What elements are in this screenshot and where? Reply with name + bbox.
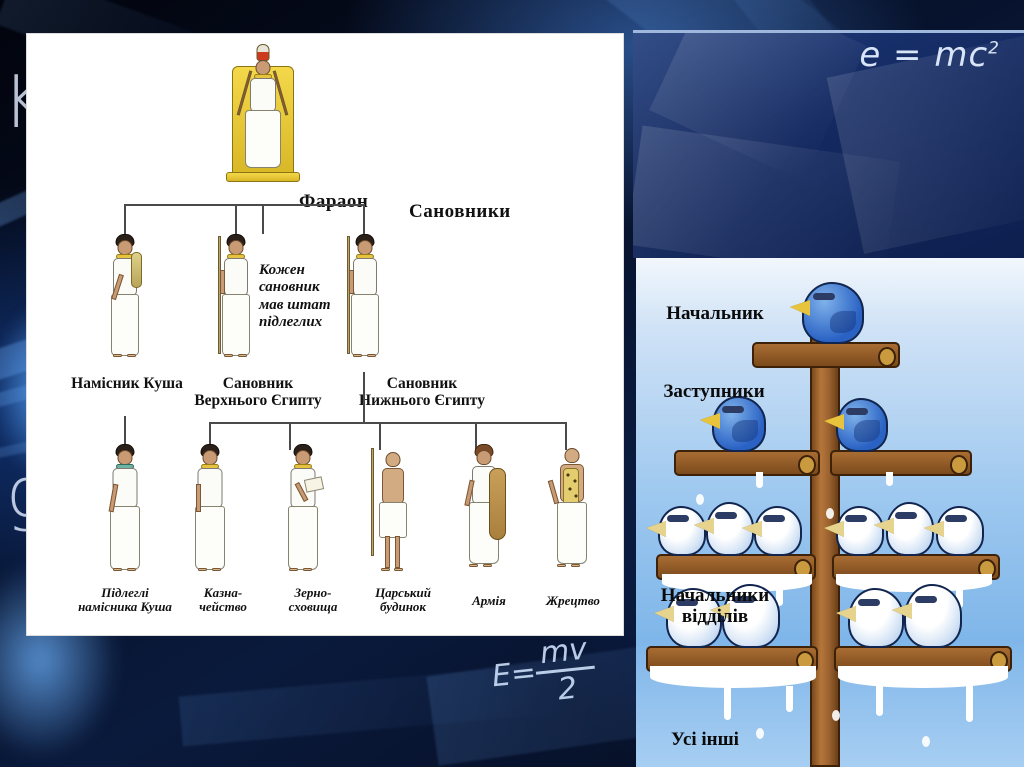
staff-icon bbox=[218, 236, 221, 354]
connector-tier3-bus bbox=[209, 422, 567, 424]
staff-icon bbox=[371, 448, 374, 556]
figure-foot bbox=[224, 354, 233, 357]
wing-icon bbox=[732, 420, 758, 442]
figure-head bbox=[477, 450, 492, 465]
beak-icon bbox=[824, 521, 844, 537]
beak-icon bbox=[892, 603, 912, 619]
wing-icon bbox=[830, 311, 856, 333]
figure-head bbox=[118, 240, 133, 255]
figure-foot bbox=[113, 568, 122, 571]
formula-denominator: 2 bbox=[536, 666, 599, 710]
figure-head bbox=[203, 450, 218, 465]
figure-robe bbox=[288, 506, 318, 570]
throne-base bbox=[226, 172, 300, 182]
formula-energy-mass-text: e = mc bbox=[859, 35, 988, 75]
figure-priesthood bbox=[543, 444, 601, 584]
figure-foot bbox=[381, 568, 390, 571]
formula-kinetic-lhs: E= bbox=[490, 655, 538, 694]
figure-torso bbox=[224, 258, 248, 296]
formula-numerator: mv bbox=[532, 631, 594, 672]
figure-granary-scribe bbox=[275, 444, 331, 584]
beak-icon bbox=[924, 521, 944, 537]
figure-arm bbox=[548, 480, 559, 504]
formula-exponent: 2 bbox=[988, 39, 1000, 59]
figure-kush-subordinates bbox=[99, 444, 151, 584]
eye-icon bbox=[763, 515, 785, 522]
formula-kinetic-energy: E=mv2 bbox=[488, 631, 598, 714]
figure-head bbox=[565, 448, 580, 463]
label-lower-egypt-official: Сановник Нижнього Єгипту bbox=[327, 376, 517, 409]
figure-robe bbox=[351, 294, 379, 356]
branch-right-deputies bbox=[830, 450, 972, 476]
label-priesthood: Жрецтво bbox=[527, 594, 619, 608]
figure-foot bbox=[483, 564, 492, 567]
figure-foot bbox=[238, 354, 247, 357]
scroll-icon bbox=[304, 476, 324, 492]
figure-foot bbox=[198, 568, 207, 571]
pharaoh-robe bbox=[245, 110, 281, 168]
label-treasury: Казна- чейство bbox=[175, 586, 271, 614]
label-upper-egypt-official: Сановник Верхнього Єгипту bbox=[163, 376, 353, 409]
bird-boss bbox=[802, 282, 864, 344]
figure-foot bbox=[367, 354, 376, 357]
figure-torso bbox=[382, 468, 404, 504]
label-department-heads: Начальники відділів bbox=[640, 586, 790, 627]
beak-icon bbox=[836, 606, 856, 622]
dropping-drip bbox=[786, 686, 793, 712]
eye-icon bbox=[667, 515, 689, 522]
figure-foot bbox=[469, 564, 478, 567]
connector-tier2-branch-1 bbox=[124, 204, 126, 236]
dropping-flake bbox=[922, 736, 930, 747]
bird-hierarchy-illustration: Начальник Заступники Начальники відділів… bbox=[636, 258, 1024, 767]
label-royal-house: Царський будинок bbox=[353, 586, 453, 614]
pharaoh-torso bbox=[250, 78, 276, 112]
figure-torso bbox=[198, 468, 223, 508]
figure-head bbox=[386, 452, 401, 467]
figure-head bbox=[358, 240, 373, 255]
pharaoh-head bbox=[256, 60, 271, 75]
dropping-splat bbox=[836, 574, 992, 592]
figure-head bbox=[296, 450, 311, 465]
beak-icon bbox=[694, 518, 714, 534]
figure-head bbox=[229, 240, 244, 255]
figure-foot bbox=[571, 564, 580, 567]
figure-head bbox=[118, 450, 133, 465]
dropping-drip bbox=[886, 472, 893, 486]
dropping-splat bbox=[838, 666, 1008, 688]
formula-energy-mass: e = mc2 bbox=[859, 35, 1000, 75]
pharaoh-crown-icon bbox=[257, 44, 270, 61]
branch-left-deputies bbox=[674, 450, 820, 476]
bird-other bbox=[904, 584, 962, 648]
dropping-drip bbox=[756, 472, 763, 488]
connector-tier3-branch-3 bbox=[379, 422, 381, 450]
label-granaries: Зерно- сховища bbox=[265, 586, 361, 614]
connector-tier2-bus bbox=[124, 204, 364, 206]
figure-leg bbox=[395, 536, 400, 568]
figure-arm bbox=[196, 484, 201, 512]
eye-icon bbox=[915, 596, 937, 603]
figure-foot bbox=[127, 354, 136, 357]
eye-icon bbox=[846, 408, 868, 415]
figure-pharaoh bbox=[227, 44, 299, 204]
figure-foot bbox=[212, 568, 221, 571]
beak-icon bbox=[742, 521, 762, 537]
beak-icon bbox=[874, 518, 894, 534]
beak-icon bbox=[700, 413, 720, 429]
label-deputies: Заступники bbox=[636, 382, 792, 403]
beak-icon bbox=[646, 521, 666, 537]
figure-foot bbox=[289, 568, 298, 571]
figure-robe bbox=[111, 294, 139, 356]
figure-foot bbox=[127, 568, 136, 571]
dropping-flake bbox=[826, 508, 834, 519]
eye-icon bbox=[945, 515, 967, 522]
note-each-official-had-staff: Кожен сановник мав штат підлеглих bbox=[259, 262, 355, 332]
figure-foot bbox=[353, 354, 362, 357]
bird-deputy-left bbox=[712, 396, 766, 452]
label-boss: Начальник bbox=[640, 304, 790, 325]
egypt-hierarchy-diagram: Фараон Сановники bbox=[26, 33, 624, 636]
wooden-pole bbox=[810, 320, 840, 767]
figure-leg bbox=[385, 536, 390, 568]
eye-icon bbox=[715, 512, 737, 519]
beak-icon bbox=[790, 300, 810, 316]
figure-arm bbox=[220, 270, 225, 294]
connector-tier2-branch-3 bbox=[363, 204, 365, 236]
eye-icon bbox=[895, 512, 917, 519]
figure-robe bbox=[195, 506, 225, 570]
branch-top bbox=[752, 342, 900, 368]
flail-icon bbox=[131, 252, 142, 288]
top-right-blue-panel: e = mc2 bbox=[633, 30, 1024, 258]
figure-robe bbox=[110, 506, 140, 570]
dropping-drip bbox=[724, 686, 731, 720]
eye-icon bbox=[813, 293, 835, 300]
dropping-drip bbox=[966, 686, 973, 722]
beak-icon bbox=[824, 414, 844, 430]
figure-kilt bbox=[379, 502, 407, 538]
eye-icon bbox=[845, 515, 867, 522]
figure-torso bbox=[353, 258, 377, 296]
bird-deputy-right bbox=[836, 398, 888, 452]
dropping-splat bbox=[650, 666, 816, 688]
figure-royal-house-servant bbox=[367, 448, 419, 584]
figure-kush-viceroy bbox=[99, 234, 151, 372]
figure-army-soldier bbox=[455, 444, 513, 584]
figure-treasury bbox=[184, 444, 236, 584]
bird-dept-head bbox=[936, 506, 984, 556]
connector-pharaoh-stem bbox=[262, 204, 264, 234]
figure-foot bbox=[394, 568, 403, 571]
eye-icon bbox=[858, 599, 880, 606]
figure-robe bbox=[222, 294, 250, 356]
bird-dept-head bbox=[754, 506, 802, 556]
figure-foot bbox=[557, 564, 566, 567]
wing-icon bbox=[854, 420, 880, 442]
dropping-drip bbox=[876, 686, 883, 716]
eye-icon bbox=[722, 406, 744, 413]
label-everyone-else: Усі інші bbox=[640, 730, 770, 751]
label-officials: Сановники bbox=[409, 202, 569, 223]
dropping-flake bbox=[696, 494, 704, 505]
dropping-flake bbox=[832, 710, 840, 721]
figure-upper-egypt-official bbox=[210, 234, 262, 372]
presentation-slide: K g e = mc2 E=mv2 Фараон Сановники bbox=[0, 0, 1024, 767]
figure-foot bbox=[113, 354, 122, 357]
connector-tier2-branch-2 bbox=[235, 204, 237, 236]
shield-icon bbox=[489, 468, 506, 540]
figure-robe bbox=[557, 502, 587, 564]
label-army: Армія bbox=[451, 594, 527, 608]
formula-fraction: mv2 bbox=[532, 631, 598, 710]
figure-foot bbox=[303, 568, 312, 571]
label-pharaoh: Фараон bbox=[299, 192, 419, 213]
connector-lower-egypt-stem bbox=[363, 372, 365, 422]
